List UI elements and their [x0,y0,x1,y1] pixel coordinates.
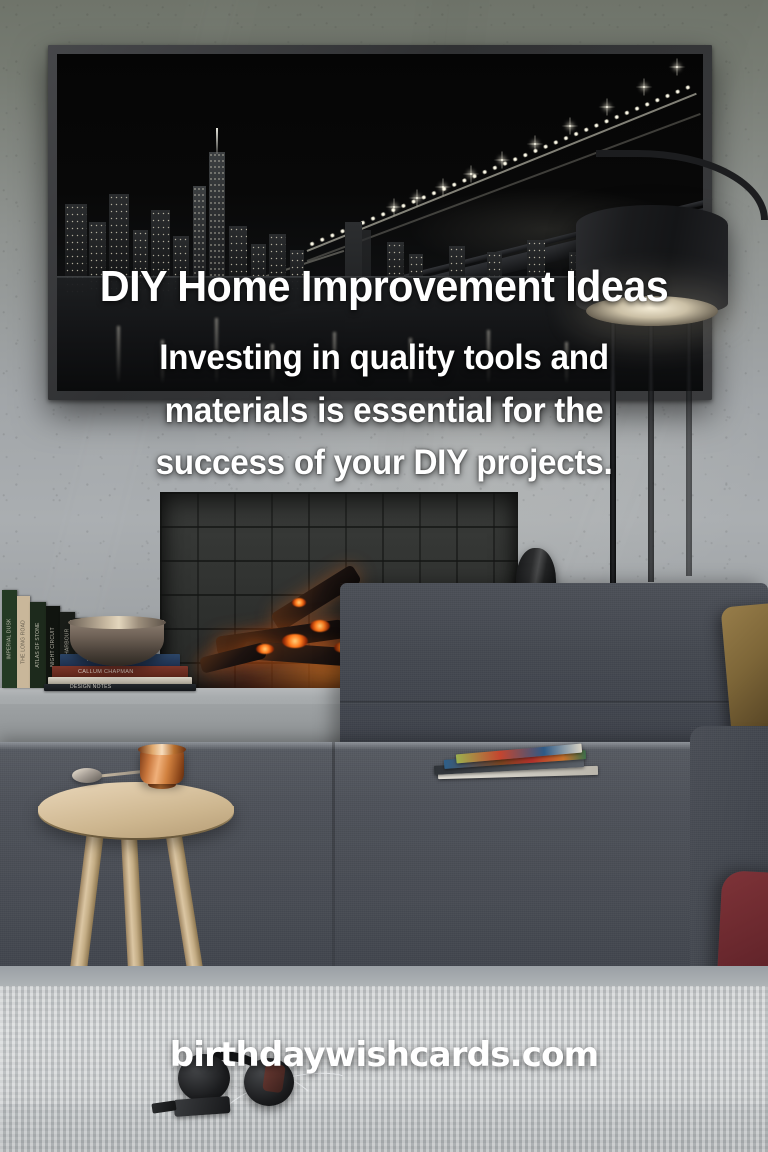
floor-lamp-light-glow [586,296,718,326]
decorative-bowl-rim [68,616,166,629]
fire-ember [292,598,306,607]
copper-cup-rim [138,744,186,755]
light-flare-icon [606,106,608,108]
stacked-book: DESIGN NOTES [44,684,196,691]
rug-front-weave-texture [0,1104,768,1152]
light-flare-icon [534,143,536,145]
side-table-stool-top [38,782,234,838]
water-reflection [409,338,412,384]
sofa-seam [340,701,768,704]
fire-ember [282,634,308,648]
water-reflection [487,330,490,384]
pinterest-pin-image: IMPERIAL DUSK THE LONG ROAD ATLAS OF STO… [0,0,768,1152]
headphone-earpad [262,1063,286,1094]
sofa-seat-top-edge [0,742,768,750]
floor-lamp-stem [686,320,692,576]
water-reflection [117,326,120,384]
water-reflection [271,344,274,384]
light-flare-icon [676,66,678,68]
rug-front-edge [0,1104,768,1152]
stacked-book-label: CALLUM CHAPMAN [78,669,134,676]
water-reflection [215,318,218,384]
magazine-stack [432,748,604,782]
water-reflection [333,332,336,384]
tower-spire [216,128,218,154]
stacked-book-label: DESIGN NOTES [70,684,111,690]
floor-lamp-stem [610,320,616,588]
fire-ember [310,620,330,632]
water-reflection [565,342,568,384]
light-flare-icon [643,86,645,88]
spoon-icon [72,768,102,783]
floor-lamp-stem [648,320,654,582]
headphone-earcup [178,1054,230,1102]
light-flare-icon [569,125,571,127]
fire-ember [256,644,274,654]
skyline-tower-main [209,152,225,294]
water-reflection [161,340,164,384]
light-flare-icon [501,159,503,161]
